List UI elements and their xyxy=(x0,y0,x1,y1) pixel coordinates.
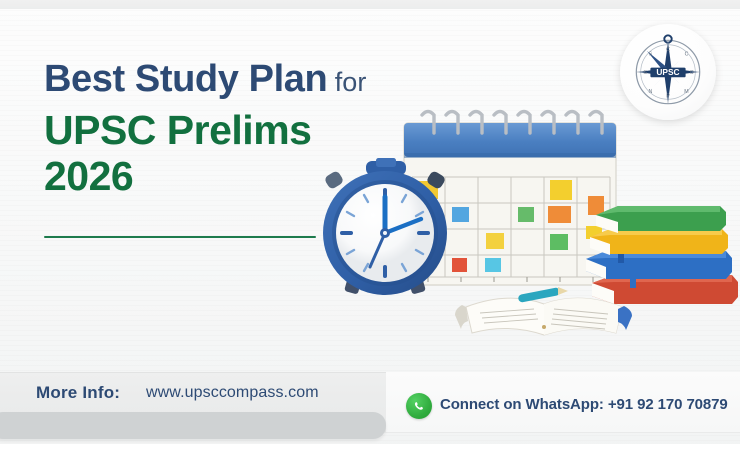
svg-text:C: C xyxy=(685,51,689,57)
svg-text:O: O xyxy=(690,70,694,76)
green-divider-rule xyxy=(44,236,316,238)
svg-text:S: S xyxy=(643,70,647,76)
bottom-edge-strip xyxy=(0,444,740,460)
poster-root: Best Study Plan for UPSC Prelims 2026 xyxy=(0,0,740,460)
alarm-clock-icon xyxy=(323,158,447,295)
headline-line-1: Best Study Plan for xyxy=(44,60,464,100)
whatsapp-icon[interactable] xyxy=(406,393,432,419)
open-notebook-icon xyxy=(455,298,632,335)
website-url[interactable]: www.upsccompass.com xyxy=(146,384,319,402)
book-stack-icon xyxy=(586,206,738,304)
headline-main-text: Best Study Plan xyxy=(44,58,327,100)
illustration-svg xyxy=(300,95,740,345)
footer-grey-pill xyxy=(0,412,386,439)
svg-text:C: C xyxy=(666,47,670,53)
study-desk-illustration xyxy=(300,95,740,345)
whatsapp-contact-text[interactable]: Connect on WhatsApp: +91 92 170 70879 xyxy=(440,396,728,413)
phone-handset-glyph xyxy=(411,398,427,414)
more-info-label: More Info: xyxy=(36,383,120,403)
headline-for-word: for xyxy=(327,67,366,97)
svg-text:S: S xyxy=(649,51,653,57)
top-edge-strip xyxy=(0,0,740,9)
svg-text:UPSC: UPSC xyxy=(656,67,679,77)
